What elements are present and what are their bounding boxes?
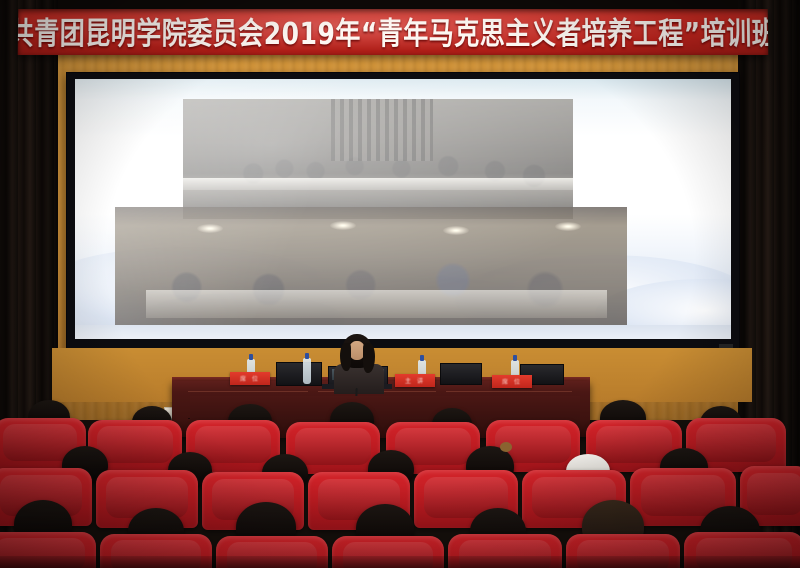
- slide-footer-band: [75, 325, 731, 339]
- projection-screen-surface: [75, 79, 731, 339]
- desktop-monitor: [440, 363, 482, 385]
- nameplate-center-text: 主 讲: [405, 376, 425, 385]
- water-bottle: [303, 358, 311, 384]
- projection-screen-frame: [66, 72, 740, 352]
- audience-floor-shadow: [0, 556, 800, 568]
- audience-hair-bun: [500, 442, 512, 452]
- desktop-monitor: [276, 362, 322, 386]
- nameplate-right: 席 位: [492, 375, 532, 388]
- nameplate-left-text: 席 位: [240, 374, 260, 383]
- slide-photo-historical-assembly: [183, 99, 573, 219]
- speaker-person: [330, 334, 386, 390]
- audience-area: [0, 396, 800, 568]
- nameplate-right-text: 席 位: [502, 377, 522, 386]
- banner-title-text: 共青团昆明学院委员会2019年“青年马克思主义者培养工程”培训班: [18, 10, 769, 54]
- nameplate-left: 席 位: [230, 372, 270, 385]
- auditorium-scene: 共青团昆明学院委员会2019年“青年马克思主义者培养工程”培训班: [0, 0, 800, 568]
- speaker-hair-left: [340, 343, 351, 371]
- slide-photo-meeting-room: [115, 207, 627, 325]
- speaker-body: [334, 364, 384, 394]
- event-banner: 共青团昆明学院委员会2019年“青年马克思主义者培养工程”培训班: [18, 9, 769, 55]
- nameplate-center: 主 讲: [395, 374, 435, 387]
